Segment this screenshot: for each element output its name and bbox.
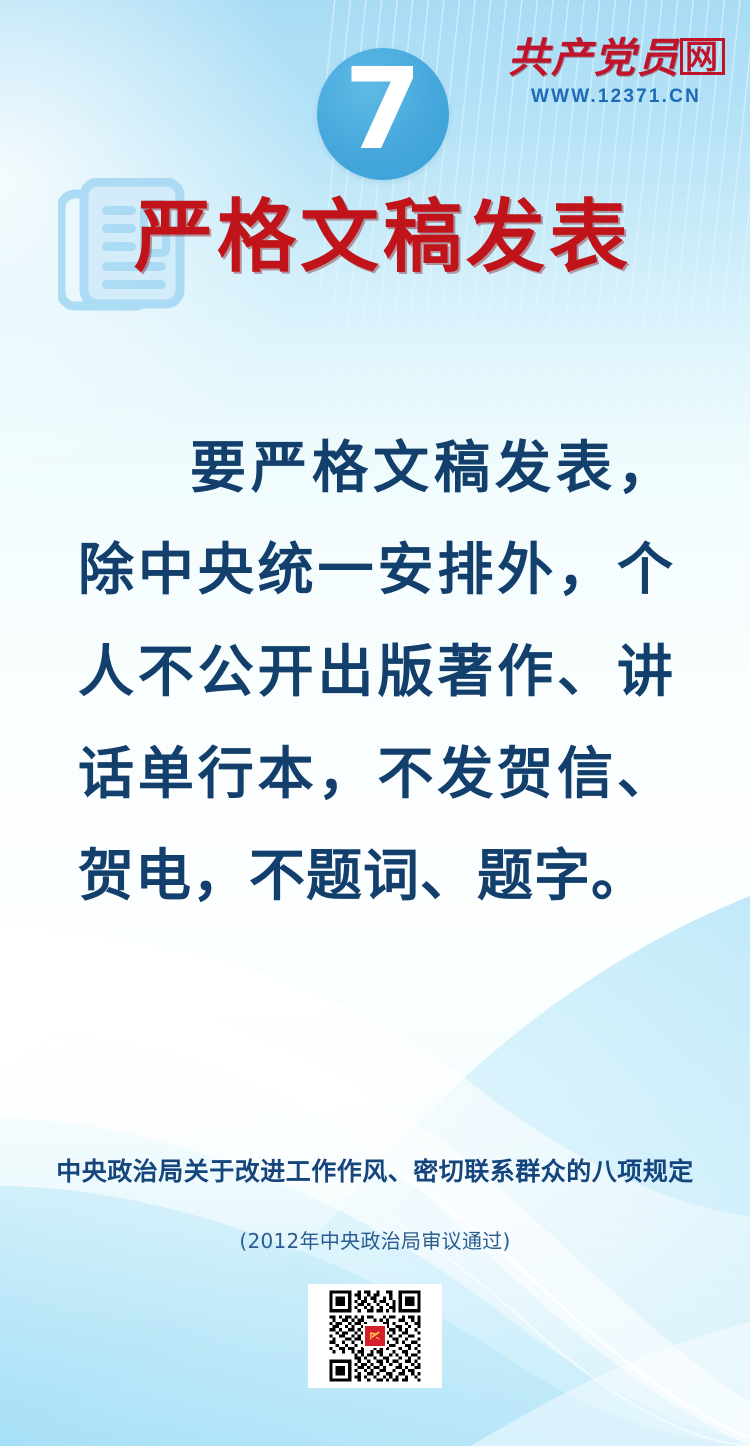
site-logo-brand: 共产党员 bbox=[508, 34, 680, 82]
rule-body-text: 要严格文稿发表，除中央统一安排外，个人不公开出版著作、讲话单行本，不发贺信、贺电… bbox=[78, 418, 674, 928]
site-logo-brand-suffix: 网 bbox=[680, 38, 725, 75]
page-title: 严格文稿发表 bbox=[134, 196, 632, 279]
site-logo-mark: 共产党员网 bbox=[508, 38, 724, 79]
footer-regulation-subtitle: (2012年中央政治局审议通过) bbox=[0, 1225, 750, 1254]
number-badge-value: 7 bbox=[317, 48, 449, 180]
site-logo[interactable]: 共产党员网 WWW.12371.CN bbox=[508, 38, 724, 108]
party-emblem-icon bbox=[363, 1324, 387, 1348]
qr-code[interactable] bbox=[308, 1284, 442, 1388]
poster-canvas: 共产党员网 WWW.12371.CN 7 严格文稿发表 要严格文稿发表，除中央统… bbox=[0, 0, 750, 1446]
footer-regulation-title: 中央政治局关于改进工作作风、密切联系群众的八项规定 bbox=[0, 1152, 750, 1188]
site-logo-url: WWW.12371.CN bbox=[508, 86, 724, 108]
number-badge: 7 bbox=[317, 48, 449, 180]
